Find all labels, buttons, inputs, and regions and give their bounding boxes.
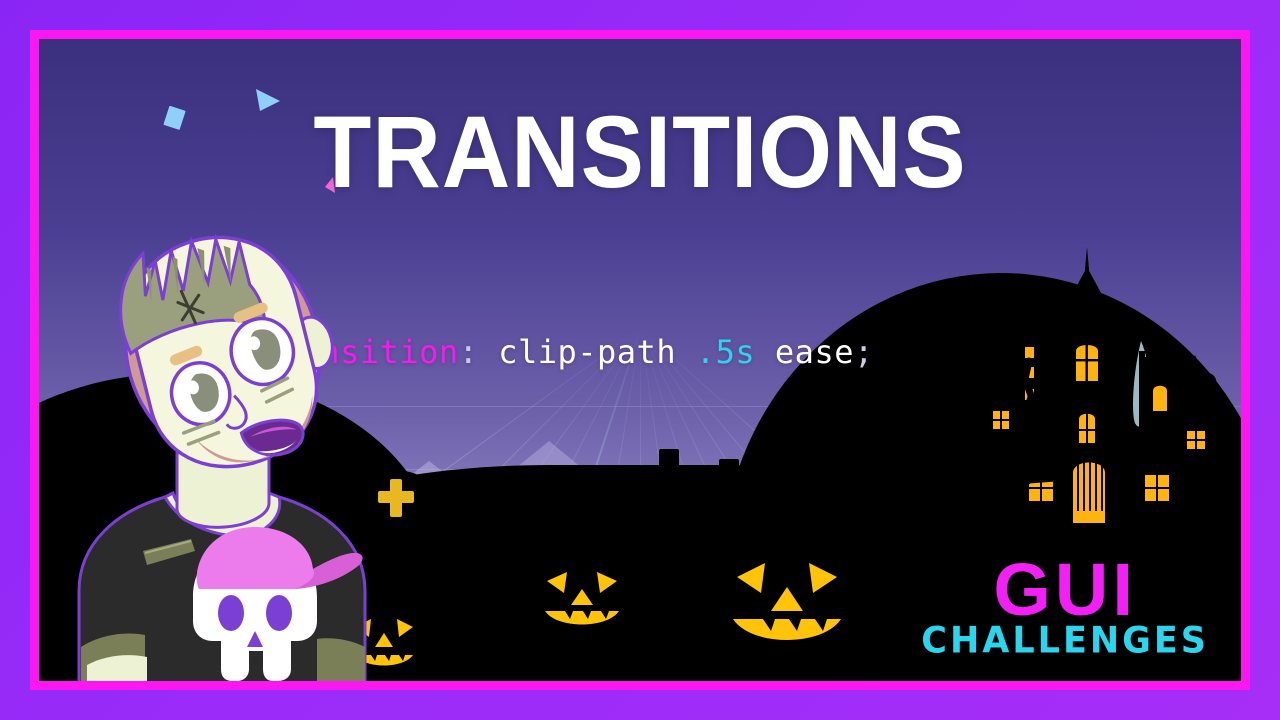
bat-icon xyxy=(509,467,629,537)
magenta-frame-border: TRANSITIONS transition: clip-path .5s ea… xyxy=(30,30,1250,690)
css-colon: : xyxy=(459,333,479,371)
css-easing: ease xyxy=(775,333,854,371)
gui-challenges-logo: GUI CHALLENGES xyxy=(921,556,1209,659)
css-semicolon: ; xyxy=(854,333,874,371)
css-duration: .5s xyxy=(696,333,755,371)
slide-screen: TRANSITIONS transition: clip-path .5s ea… xyxy=(39,39,1241,681)
page-title: TRANSITIONS xyxy=(81,94,1199,211)
logo-line-gui: GUI xyxy=(921,556,1209,624)
logo-line-challenges: CHALLENGES xyxy=(921,623,1209,660)
css-value-name: clip-path xyxy=(498,333,676,371)
jack-o-lantern-right-icon xyxy=(699,499,879,659)
slide-canvas: TRANSITIONS transition: clip-path .5s ea… xyxy=(0,0,1280,720)
host-avatar xyxy=(73,221,373,681)
jack-o-lantern-center-icon xyxy=(519,525,645,643)
